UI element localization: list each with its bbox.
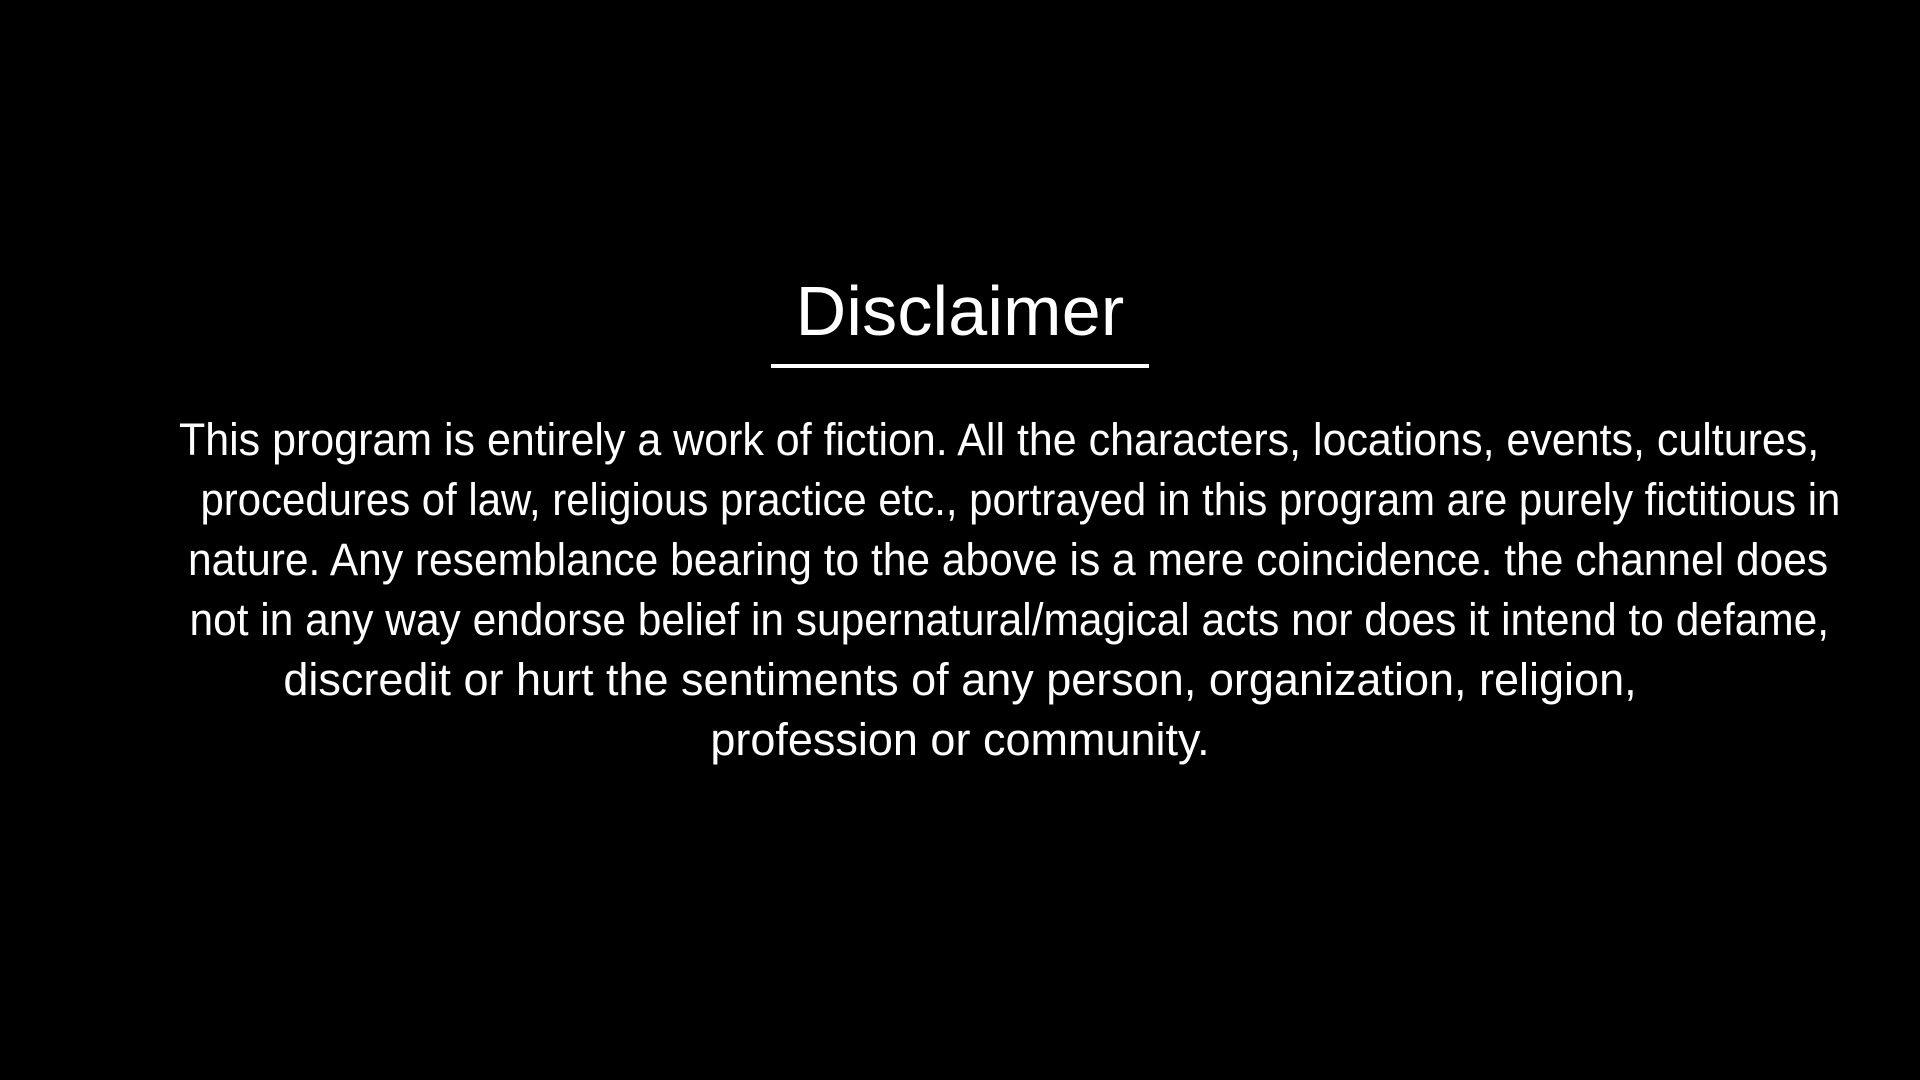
title-underline-divider (771, 364, 1149, 368)
disclaimer-line: This program is entirely a work of ficti… (179, 410, 1819, 470)
disclaimer-line: discredit or hurt the sentiments of any … (140, 650, 1780, 710)
disclaimer-line: nature. Any resemblance bearing to the a… (188, 530, 1828, 590)
disclaimer-line: not in any way endorse belief in superna… (189, 590, 1829, 650)
disclaimer-text-block: This program is entirely a work of ficti… (140, 410, 1780, 770)
title-block: Disclaimer (0, 276, 1920, 368)
page-title: Disclaimer (0, 276, 1920, 346)
disclaimer-slide: Disclaimer This program is entirely a wo… (0, 0, 1920, 1080)
disclaimer-line: procedures of law, religious practice et… (200, 470, 1840, 530)
disclaimer-line: profession or community. (140, 710, 1780, 770)
